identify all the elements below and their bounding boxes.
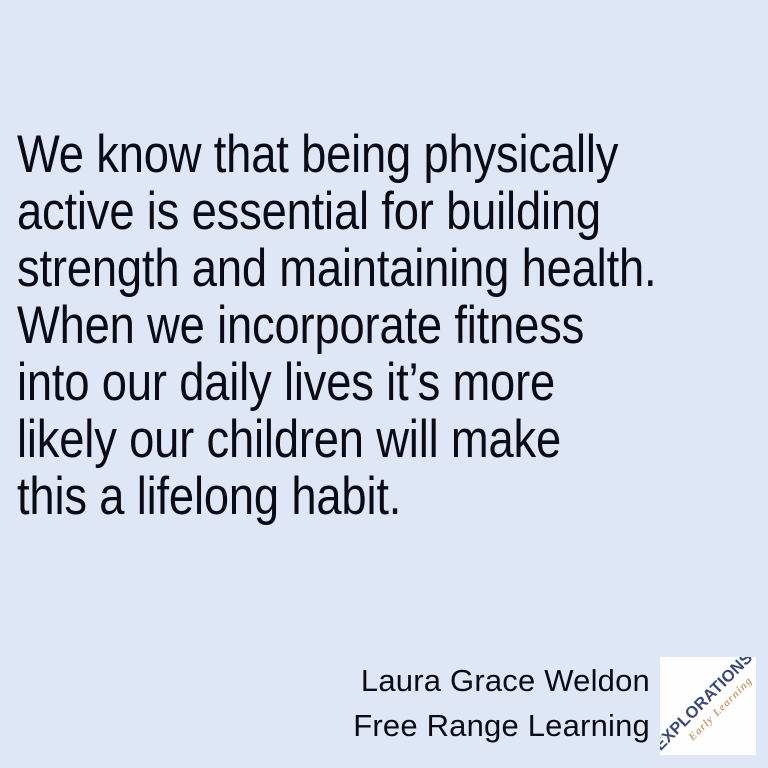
logo-inner: EXPLORATIONS Early Learning bbox=[660, 657, 756, 755]
attribution-block: Laura Grace Weldon Free Range Learning bbox=[110, 658, 650, 748]
quote-line: into our daily lives it’s more bbox=[17, 354, 650, 411]
quote-card: We know that being physically active is … bbox=[0, 0, 768, 768]
logo-primary-text: EXPLORATIONS bbox=[660, 657, 756, 755]
quote-text-block: We know that being physically active is … bbox=[17, 126, 757, 525]
quote-line: strength and maintaining health. bbox=[17, 240, 650, 297]
quote-line: this a lifelong habit. bbox=[17, 468, 650, 525]
attribution-source: Free Range Learning bbox=[110, 703, 650, 748]
explorations-logo: EXPLORATIONS Early Learning bbox=[660, 657, 756, 755]
quote-line: When we incorporate fitness bbox=[17, 297, 650, 354]
quote-line: We know that being physically bbox=[17, 126, 650, 183]
attribution-author: Laura Grace Weldon bbox=[110, 658, 650, 703]
quote-line: likely our children will make bbox=[17, 411, 650, 468]
quote-line: active is essential for building bbox=[17, 183, 650, 240]
